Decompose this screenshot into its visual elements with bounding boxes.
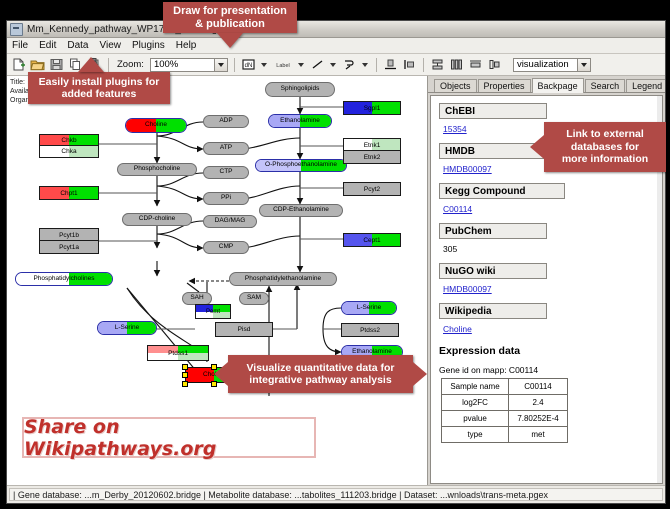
node-label: SAM [247, 295, 261, 302]
gene-label: Chkb [61, 137, 76, 144]
svg-text:dN: dN [245, 63, 253, 69]
same-width-icon[interactable] [468, 57, 483, 72]
tab-backpage[interactable]: Backpage [532, 78, 584, 93]
node-label: DAG/MAG [215, 218, 246, 225]
node-label: ADP [219, 118, 232, 125]
gene-label: Cept1 [363, 237, 380, 244]
callout-line-2: & publication [195, 18, 265, 31]
row-value: met [509, 427, 568, 443]
status-text: | Gene database: ...m_Derby_20120602.bri… [9, 488, 663, 501]
side-panel-tabs: Objects Properties Backpage Search Legen… [428, 76, 665, 93]
node-label: CMP [219, 244, 233, 251]
label-tool[interactable]: Label [273, 57, 293, 72]
gene-label: Pcyt1b [59, 232, 79, 239]
visualization-combobox[interactable]: visualization [513, 58, 591, 72]
zoom-label: Zoom: [117, 59, 144, 70]
kegg-compound-link[interactable]: C00114 [443, 204, 472, 214]
gene-label: Etnk1 [364, 142, 381, 149]
gene-label: Chka [61, 148, 76, 155]
callout-links-arrow-icon [530, 135, 544, 159]
node-ethanolamine-top[interactable]: Ethanolamine [268, 114, 332, 128]
callout-draw-arrow-icon [217, 33, 243, 48]
gene-pemt[interactable]: Pemt [195, 304, 231, 319]
distribute-horizontal-icon[interactable] [449, 57, 464, 72]
toolbar-separator [108, 58, 109, 72]
share-text: Share on Wikipathways.org [24, 416, 314, 460]
selection-handle[interactable] [182, 364, 188, 370]
line-icon[interactable] [310, 57, 325, 72]
callout-visualize-data: Visualize quantitative data for integrat… [228, 355, 413, 393]
menu-edit[interactable]: Edit [38, 40, 57, 51]
callout-line-2: databases for [571, 141, 639, 153]
node-phosphatidylcholines[interactable]: Phosphatidylcholines [15, 272, 113, 286]
gene-chka[interactable]: Chka [39, 145, 99, 158]
node-choline-top[interactable]: Choline [125, 118, 187, 133]
table-row: type met [442, 427, 568, 443]
node-sphingolipids[interactable]: Sphingolipids [265, 82, 335, 97]
gene-pisd[interactable]: Pisd [215, 322, 273, 337]
node-label: L-Serine [115, 325, 140, 332]
callout-line-2: added features [62, 88, 137, 100]
node-phosphatidylethanolamine[interactable]: Phosphatidylethanolamine [229, 272, 337, 286]
group-icon[interactable] [487, 57, 502, 72]
menu-plugins[interactable]: Plugins [131, 40, 166, 51]
node-cmp[interactable]: CMP [203, 241, 249, 254]
align-left-icon[interactable] [402, 57, 417, 72]
node-label: SAH [190, 295, 203, 302]
node-cdp-ethanolamine[interactable]: CDP-Ethanolamine [259, 204, 343, 217]
tab-objects[interactable]: Objects [434, 79, 477, 92]
tab-properties[interactable]: Properties [478, 79, 531, 92]
node-label: Phosphatidylcholines [33, 276, 94, 283]
new-file-icon[interactable] [11, 57, 26, 72]
gene-chpt1[interactable]: Chpt1 [39, 186, 99, 200]
callout-draw-for-publication: Draw for presentation & publication [163, 2, 297, 33]
callout-plugins-arrow-icon [78, 57, 104, 72]
toolbar-separator [234, 58, 235, 72]
menu-file[interactable]: File [11, 40, 29, 51]
wikipedia-header: Wikipedia [439, 303, 547, 319]
node-ppi[interactable]: PPi [203, 192, 249, 205]
zoom-value: 100% [154, 59, 214, 70]
row-key: pvalue [442, 411, 509, 427]
row-value: C00114 [509, 379, 568, 395]
interaction-icon[interactable] [342, 57, 357, 72]
menu-data[interactable]: Data [66, 40, 89, 51]
node-phosphocholine[interactable]: Phosphocholine [117, 163, 197, 176]
menu-help[interactable]: Help [175, 40, 198, 51]
gene-label: Etnk2 [364, 154, 381, 161]
align-bottom-icon[interactable] [383, 57, 398, 72]
node-label: L-Serine [357, 305, 382, 312]
nugo-wiki-header: NuGO wiki [439, 263, 547, 279]
pubchem-header: PubChem [439, 223, 547, 239]
node-l-serine-right[interactable]: L-Serine [341, 301, 397, 315]
table-row: pvalue 7.80252E-4 [442, 411, 568, 427]
node-label: Choline [145, 122, 167, 129]
selection-handle[interactable] [182, 372, 188, 378]
save-icon[interactable] [49, 57, 64, 72]
row-key: type [442, 427, 509, 443]
row-value: 2.4 [509, 395, 568, 411]
gene-label: Pemt [206, 309, 220, 315]
callout-external-links: Link to external databases for more info… [544, 122, 666, 172]
toolbar-separator [423, 58, 424, 72]
gene-id-on-mapp: Gene id on mapp: C00114 [439, 365, 662, 375]
interaction-dropdown-icon[interactable] [361, 57, 370, 72]
node-label: Ethanolamine [280, 118, 320, 125]
gene-sgpl1[interactable]: Sgpl1 [343, 101, 401, 115]
node-label: CDP-Ethanolamine [273, 207, 329, 214]
visualization-value: visualization [517, 59, 577, 70]
pubchem-value: 305 [443, 244, 457, 254]
open-folder-icon[interactable] [30, 57, 45, 72]
status-bar: | Gene database: ...m_Derby_20120602.bri… [7, 485, 665, 503]
selection-handle[interactable] [182, 381, 188, 387]
node-label: Phosphatidylethanolamine [245, 276, 321, 283]
expression-table: Sample name C00114 log2FC 2.4 pvalue 7.8… [441, 378, 568, 443]
tab-search[interactable]: Search [585, 79, 626, 92]
node-sam[interactable]: SAM [239, 292, 269, 305]
row-value: 7.80252E-4 [509, 411, 568, 427]
node-o-phosphoethanolamine[interactable]: O-Phosphoethanolamine [255, 159, 347, 172]
node-label: CDP-choline [139, 216, 176, 223]
chevron-down-icon[interactable] [214, 59, 227, 71]
zoom-combobox[interactable]: 100% [150, 58, 228, 72]
node-l-serine-left[interactable]: L-Serine [97, 321, 157, 335]
gene-label: Chpt1 [60, 190, 77, 197]
chevron-down-icon[interactable] [577, 59, 590, 71]
stack-vertical-icon[interactable] [430, 57, 445, 72]
gene-pcyt1a[interactable]: Pcyt1a [39, 240, 99, 254]
app-icon [10, 23, 23, 36]
node-dag-mag[interactable]: DAG/MAG [203, 215, 257, 228]
callout-install-plugins: Easily install plugins for added feature… [28, 72, 170, 104]
gene-etnk2[interactable]: Etnk2 [343, 150, 401, 164]
node-cdp-choline[interactable]: CDP-choline [122, 213, 192, 226]
gene-pcyt2[interactable]: Pcyt2 [343, 182, 401, 196]
callout-line-1: Draw for presentation [173, 5, 287, 18]
node-label: ATP [220, 145, 232, 152]
node-label: Phosphocholine [134, 166, 180, 173]
toolbar-separator [376, 58, 377, 72]
menu-bar: File Edit Data View Plugins Help [7, 38, 665, 54]
gene-cept1[interactable]: Cept1 [343, 233, 401, 247]
wikipedia-link[interactable]: Choline [443, 324, 472, 334]
datanode-dropdown-icon[interactable] [260, 57, 269, 72]
gene-ptdss1[interactable]: Ptdss1 [147, 345, 209, 361]
table-row: log2FC 2.4 [442, 395, 568, 411]
table-row: Sample name C00114 [442, 379, 568, 395]
node-label: PPi [221, 195, 231, 202]
node-atp[interactable]: ATP [203, 142, 249, 155]
gene-label: Sgpl1 [364, 105, 381, 112]
title-bar: Mm_Kennedy_pathway_WP1771_45176.gpml [7, 21, 665, 38]
gene-label: Pcyt1a [59, 244, 79, 251]
row-key: Sample name [442, 379, 509, 395]
chebi-header: ChEBI [439, 103, 547, 119]
node-ctp[interactable]: CTP [203, 166, 249, 179]
label-dropdown-icon[interactable] [297, 57, 306, 72]
callout-line-3: more information [562, 153, 648, 165]
gene-label: Pisd [238, 326, 251, 333]
callout-visualize-arrow-left-icon [214, 362, 228, 386]
node-label: CTP [220, 169, 233, 176]
callout-line-1: Link to external [566, 128, 644, 140]
callout-line-2: integrative pathway analysis [249, 374, 391, 386]
svg-text:Label: Label [276, 63, 289, 69]
nugo-wiki-link[interactable]: HMDB00097 [443, 284, 492, 294]
node-label: Sphingolipids [281, 86, 320, 93]
menu-view[interactable]: View [98, 40, 122, 51]
hmdb-link[interactable]: HMDB00097 [443, 164, 492, 174]
gene-label: Pcyt2 [364, 186, 380, 193]
chebi-link[interactable]: 15354 [443, 124, 467, 134]
callout-line-1: Easily install plugins for [39, 76, 160, 88]
kegg-compound-header: Kegg Compound [439, 183, 565, 199]
row-key: log2FC [442, 395, 509, 411]
callout-visualize-arrow-right-icon [413, 362, 427, 386]
datanode-icon[interactable]: dN [241, 57, 256, 72]
line-dropdown-icon[interactable] [329, 57, 338, 72]
gene-label: Ptdss1 [168, 350, 188, 357]
expression-data-title: Expression data [439, 345, 662, 357]
tab-legend[interactable]: Legend [626, 79, 665, 92]
callout-line-1: Visualize quantitative data for [246, 362, 394, 374]
node-label: O-Phosphoethanolamine [265, 162, 337, 169]
gene-ptdss2[interactable]: Ptdss2 [341, 323, 399, 337]
node-adp[interactable]: ADP [203, 115, 249, 128]
gene-label: Ptdss2 [360, 327, 380, 334]
share-banner: Share on Wikipathways.org [22, 417, 316, 458]
